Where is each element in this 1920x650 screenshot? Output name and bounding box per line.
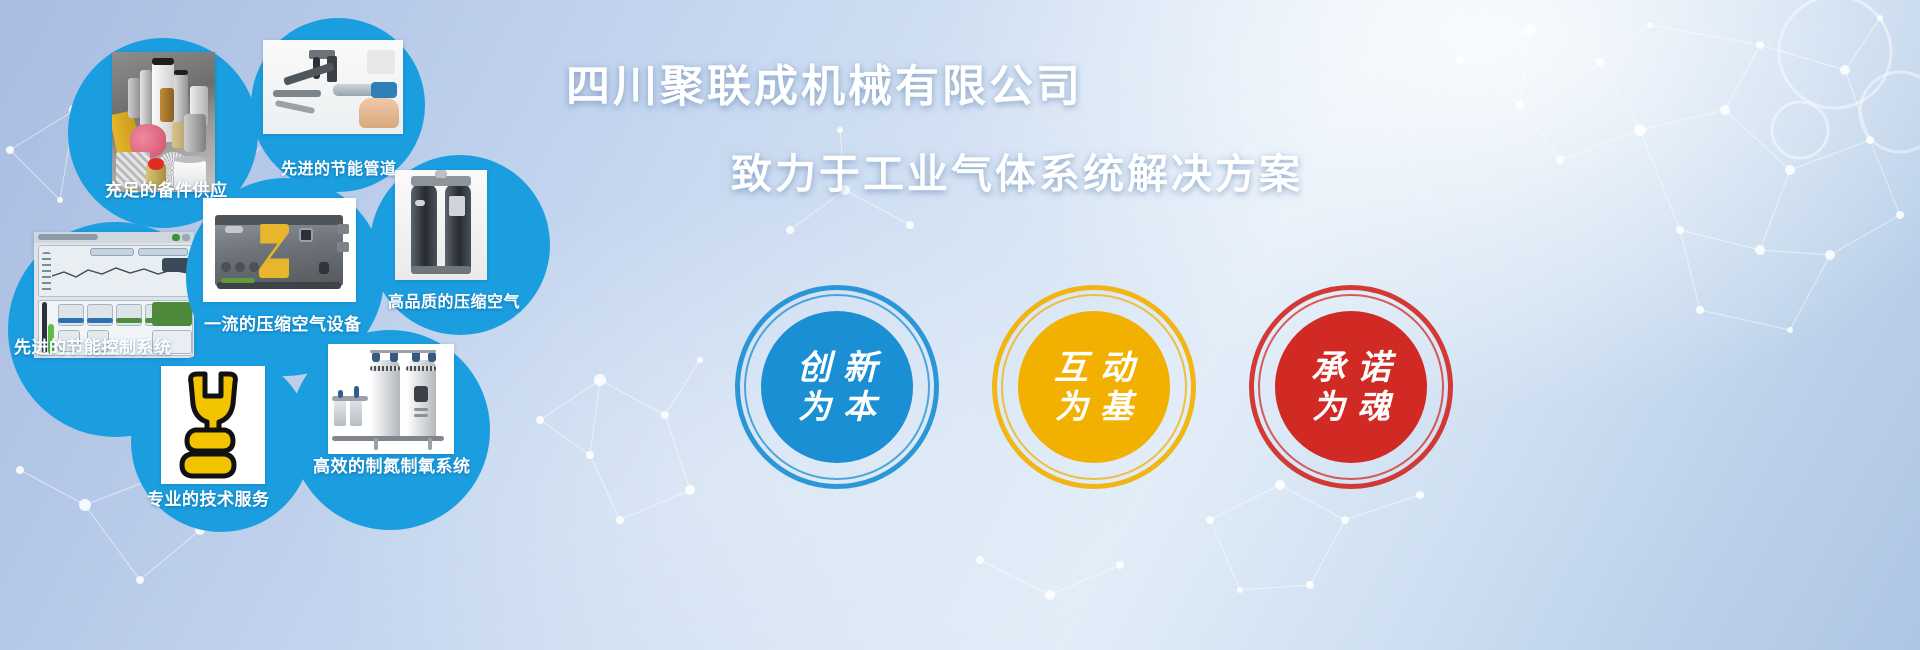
bubble-caption-psa-system: 高效的制氮制氧系统 <box>313 452 471 477</box>
bubble-caption-air-quality: 高品质的压缩空气 <box>388 288 520 312</box>
feature-bubble-cluster: 充足的备件供应 先进的节能管道 <box>0 0 620 650</box>
seal-line-1: 互动 <box>1042 350 1146 387</box>
seal-disc: 承诺 为魂 <box>1275 311 1427 463</box>
seal-disc: 创新 为本 <box>761 311 913 463</box>
promotional-banner: 充足的备件供应 先进的节能管道 <box>0 0 1920 650</box>
bubble-caption-compressor: 一流的压缩空气设备 <box>204 310 362 335</box>
value-seals-group: 创新 为本 互动 为基 承诺 为魂 <box>735 285 1465 510</box>
seal-disc: 互动 为基 <box>1018 311 1170 463</box>
company-subline: 致力于工业气体系统解决方案 <box>731 140 1303 200</box>
air-filter-elements-photo <box>112 52 215 192</box>
screw-compressor-photo <box>203 198 356 302</box>
psa-nitrogen-oxygen-photo <box>328 344 454 454</box>
seal-line-1: 创新 <box>785 350 889 387</box>
compressed-air-dryer-photo <box>395 170 487 280</box>
seal-line-2: 为本 <box>786 389 888 425</box>
seal-line-2: 为基 <box>1043 389 1145 425</box>
bubble-caption-piping: 先进的节能管道 <box>281 155 397 179</box>
seal-commitment[interactable]: 承诺 为魂 <box>1249 285 1453 489</box>
seal-line-2: 为魂 <box>1300 389 1402 425</box>
bubble-caption-control-system: 先进的节能控制系统 <box>14 333 172 358</box>
wrench-thumbs-up-photo <box>161 366 265 484</box>
seal-line-1: 承诺 <box>1299 350 1403 387</box>
molecule-icon <box>1772 0 1920 158</box>
energy-saving-piping-photo <box>263 40 403 134</box>
company-headline: 四川聚联成机械有限公司 <box>566 50 1083 114</box>
bubble-caption-technical-service: 专业的技术服务 <box>147 485 270 510</box>
seal-interaction[interactable]: 互动 为基 <box>992 285 1196 489</box>
seal-innovation[interactable]: 创新 为本 <box>735 285 939 489</box>
